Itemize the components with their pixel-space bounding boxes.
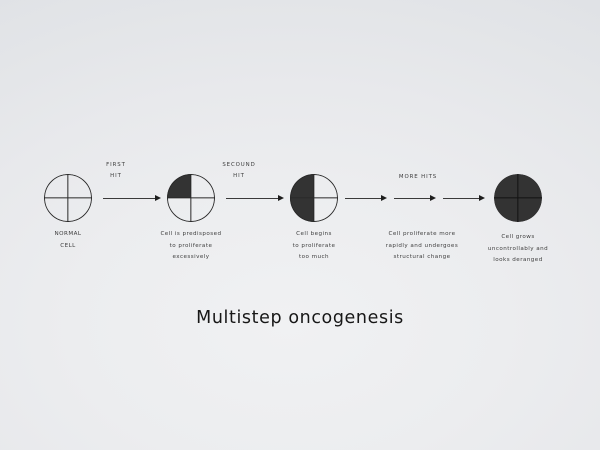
arrow-shaft [443, 198, 479, 199]
cell-predisposed [167, 174, 215, 222]
cell-proliferating [290, 174, 338, 222]
caption-line: too much [264, 252, 364, 264]
arrow-shaft [345, 198, 381, 199]
caption-line: excessively [141, 252, 241, 264]
transition-label-line: HIT [208, 171, 270, 182]
arrow-shaft [226, 198, 278, 199]
transition-label-line: SECOUND [208, 160, 270, 171]
arrow-head [430, 195, 436, 201]
arrow-head [381, 195, 387, 201]
cell-cross-horizontal [44, 197, 92, 198]
arrow-more-hits-3 [443, 193, 485, 203]
caption-line: Cell grows [468, 232, 568, 244]
caption-line: Cell begins [264, 229, 364, 241]
transition-label-line: HIT [86, 171, 146, 182]
caption-normal-cell: NORMAL CELL [18, 229, 118, 252]
oncogenesis-diagram: NORMAL CELL FIRST HIT Cell is predispose… [0, 0, 600, 450]
cell-cross-horizontal [167, 197, 215, 198]
caption-line: looks deranged [468, 255, 568, 267]
caption-line: Cell is predisposed [141, 229, 241, 241]
arrow-second-hit [226, 193, 284, 203]
arrow-head [479, 195, 485, 201]
cell-deranged [494, 174, 542, 222]
caption-line: structural change [372, 252, 472, 264]
page-title: Multistep oncogenesis [0, 308, 600, 328]
cell-cross-horizontal [494, 197, 542, 198]
caption-line: to proliferate [264, 241, 364, 253]
label-second-hit: SECOUND HIT [208, 160, 270, 181]
transition-label-line: FIRST [86, 160, 146, 171]
arrow-shaft [394, 198, 430, 199]
caption-structural-change-cell: Cell proliferate more rapidly and underg… [372, 229, 472, 264]
arrow-more-hits-2 [394, 193, 436, 203]
caption-line: CELL [18, 241, 118, 253]
cell-normal [44, 174, 92, 222]
arrow-more-hits-1 [345, 193, 387, 203]
caption-proliferating-cell: Cell begins to proliferate too much [264, 229, 364, 264]
cell-cross-horizontal [290, 197, 338, 198]
arrow-first-hit [103, 193, 161, 203]
caption-line: Cell proliferate more [372, 229, 472, 241]
label-first-hit: FIRST HIT [86, 160, 146, 181]
caption-predisposed-cell: Cell is predisposed to proliferate exces… [141, 229, 241, 264]
caption-line: rapidly and undergoes [372, 241, 472, 253]
caption-deranged-cell: Cell grows uncontrollably and looks dera… [468, 232, 568, 267]
transition-label-line: MORE HITS [383, 172, 453, 183]
label-more-hits: MORE HITS [383, 172, 453, 183]
arrow-shaft [103, 198, 155, 199]
caption-line: uncontrollably and [468, 244, 568, 256]
caption-line: NORMAL [18, 229, 118, 241]
arrow-head [278, 195, 284, 201]
caption-line: to proliferate [141, 241, 241, 253]
arrow-head [155, 195, 161, 201]
